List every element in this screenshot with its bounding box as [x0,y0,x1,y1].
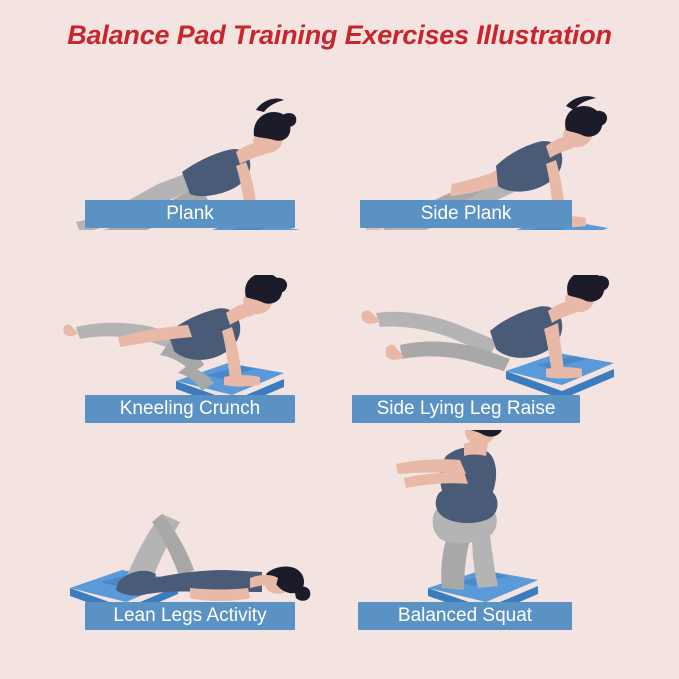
exercise-label-side-plank: Side Plank [360,200,572,228]
exercise-cell-side-lying-leg-raise: Side Lying Leg Raise [340,275,640,425]
exercise-label-balanced-squat: Balanced Squat [358,602,572,630]
exercise-label-plank: Plank [85,200,295,228]
exercise-label-kneeling-crunch: Kneeling Crunch [85,395,295,423]
exercise-cell-plank: Plank [40,80,340,230]
exercise-cell-lean-legs-activity: Lean Legs Activity [40,470,340,640]
exercise-cell-kneeling-crunch: Kneeling Crunch [40,275,340,425]
page-title: Balance Pad Training Exercises Illustrat… [0,20,679,51]
exercise-label-side-lying-leg-raise: Side Lying Leg Raise [352,395,580,423]
exercise-cell-balanced-squat: Balanced Squat [340,430,640,640]
exercise-label-lean-legs-activity: Lean Legs Activity [85,602,295,630]
illustration-page: Balance Pad Training Exercises Illustrat… [0,0,679,679]
exercise-cell-side-plank: Side Plank [340,80,640,230]
